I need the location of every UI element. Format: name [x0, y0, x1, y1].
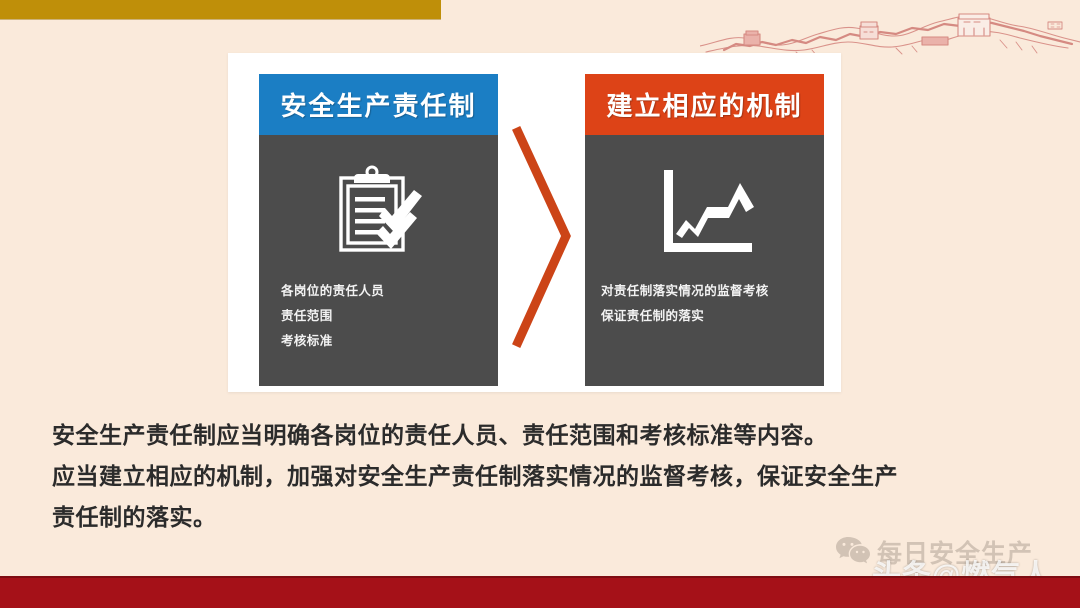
panel-right-body: 对责任制落实情况的监督考核 保证责任制的落实: [585, 135, 824, 386]
body-paragraph-2: 应当建立相应的机制，加强对安全生产责任制落实情况的监督考核，保证安全生产: [52, 456, 1047, 497]
panel-left-line-3: 考核标准: [281, 329, 498, 354]
wechat-watermark: 每日安全生产: [836, 534, 1033, 570]
bottom-red-bar: [0, 576, 1080, 608]
line-chart-icon: [654, 157, 756, 267]
body-text: 安全生产责任制应当明确各岗位的责任人员、责任范围和考核标准等内容。 应当建立相应…: [52, 415, 1047, 538]
panel-left-lines: 各岗位的责任人员 责任范围 考核标准: [259, 279, 498, 354]
panel-left-line-1: 各岗位的责任人员: [281, 279, 498, 304]
panel-left-line-2: 责任范围: [281, 304, 498, 329]
body-paragraph-1: 安全生产责任制应当明确各岗位的责任人员、责任范围和考核标准等内容。: [52, 415, 1047, 456]
great-wall-decoration: [700, 0, 1080, 58]
panel-right-header: 建立相应的机制: [585, 74, 824, 135]
body-paragraph-3: 责任制的落实。: [52, 497, 1047, 538]
diagram-card: 安全生产责任制: [228, 53, 841, 392]
panel-left-header: 安全生产责任制: [259, 74, 498, 135]
panel-safety-responsibility-system: 安全生产责任制: [259, 74, 498, 386]
panel-right-lines: 对责任制落实情况的监督考核 保证责任制的落实: [585, 279, 824, 329]
wechat-watermark-text: 每日安全生产: [877, 534, 1033, 570]
panel-right-line-1: 对责任制落实情况的监督考核: [601, 279, 824, 304]
top-gold-bar: [0, 0, 441, 19]
panel-establish-mechanism: 建立相应的机制 对责任制落实情况的监督考核 保证责任制的落实: [585, 74, 824, 386]
panel-left-body: 各岗位的责任人员 责任范围 考核标准: [259, 135, 498, 386]
clipboard-checklist-icon: [331, 157, 427, 267]
chevron-right-arrow: [512, 126, 574, 348]
panel-right-line-2: 保证责任制的落实: [601, 304, 824, 329]
wechat-icon: [836, 536, 870, 569]
